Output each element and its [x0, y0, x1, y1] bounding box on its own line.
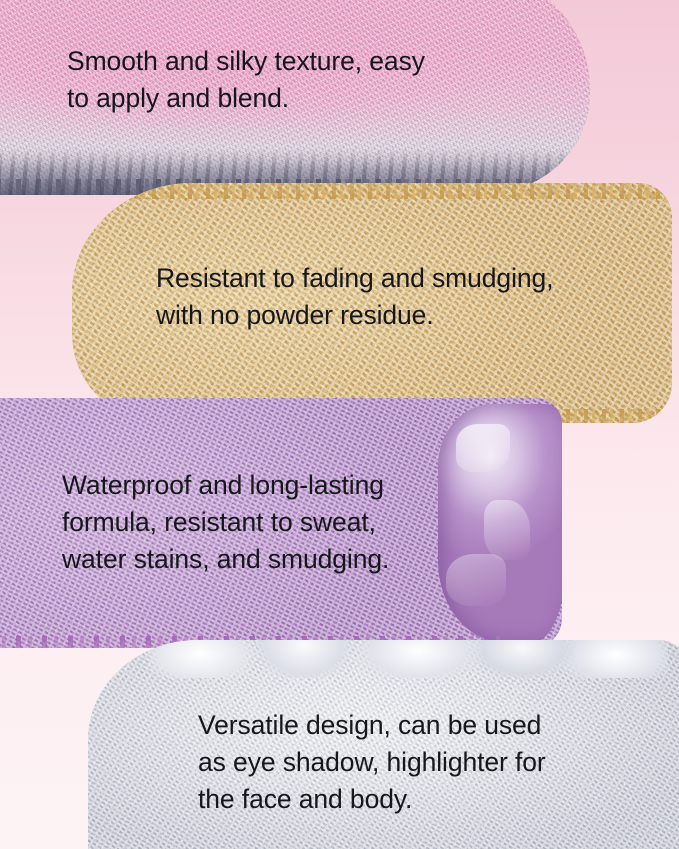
- feature-caption-versatility: Versatile design, can be used as eye sha…: [198, 707, 546, 818]
- feature-caption-texture: Smooth and silky texture, easy to apply …: [67, 43, 425, 117]
- purple-chunk-facet: [456, 424, 510, 472]
- feature-caption-waterproof: Waterproof and long-lasting formula, res…: [62, 467, 389, 578]
- product-feature-image: Smooth and silky texture, easy to apply …: [0, 0, 679, 849]
- silver-swatch-crest: [148, 640, 668, 678]
- purple-chunk-facet: [484, 500, 530, 560]
- purple-swatch-pressed-chunk: [438, 404, 562, 642]
- gold-swatch-top-specks: [72, 183, 672, 199]
- purple-chunk-facet: [446, 554, 506, 606]
- feature-caption-fade-resistance: Resistant to fading and smudging, with n…: [156, 260, 553, 334]
